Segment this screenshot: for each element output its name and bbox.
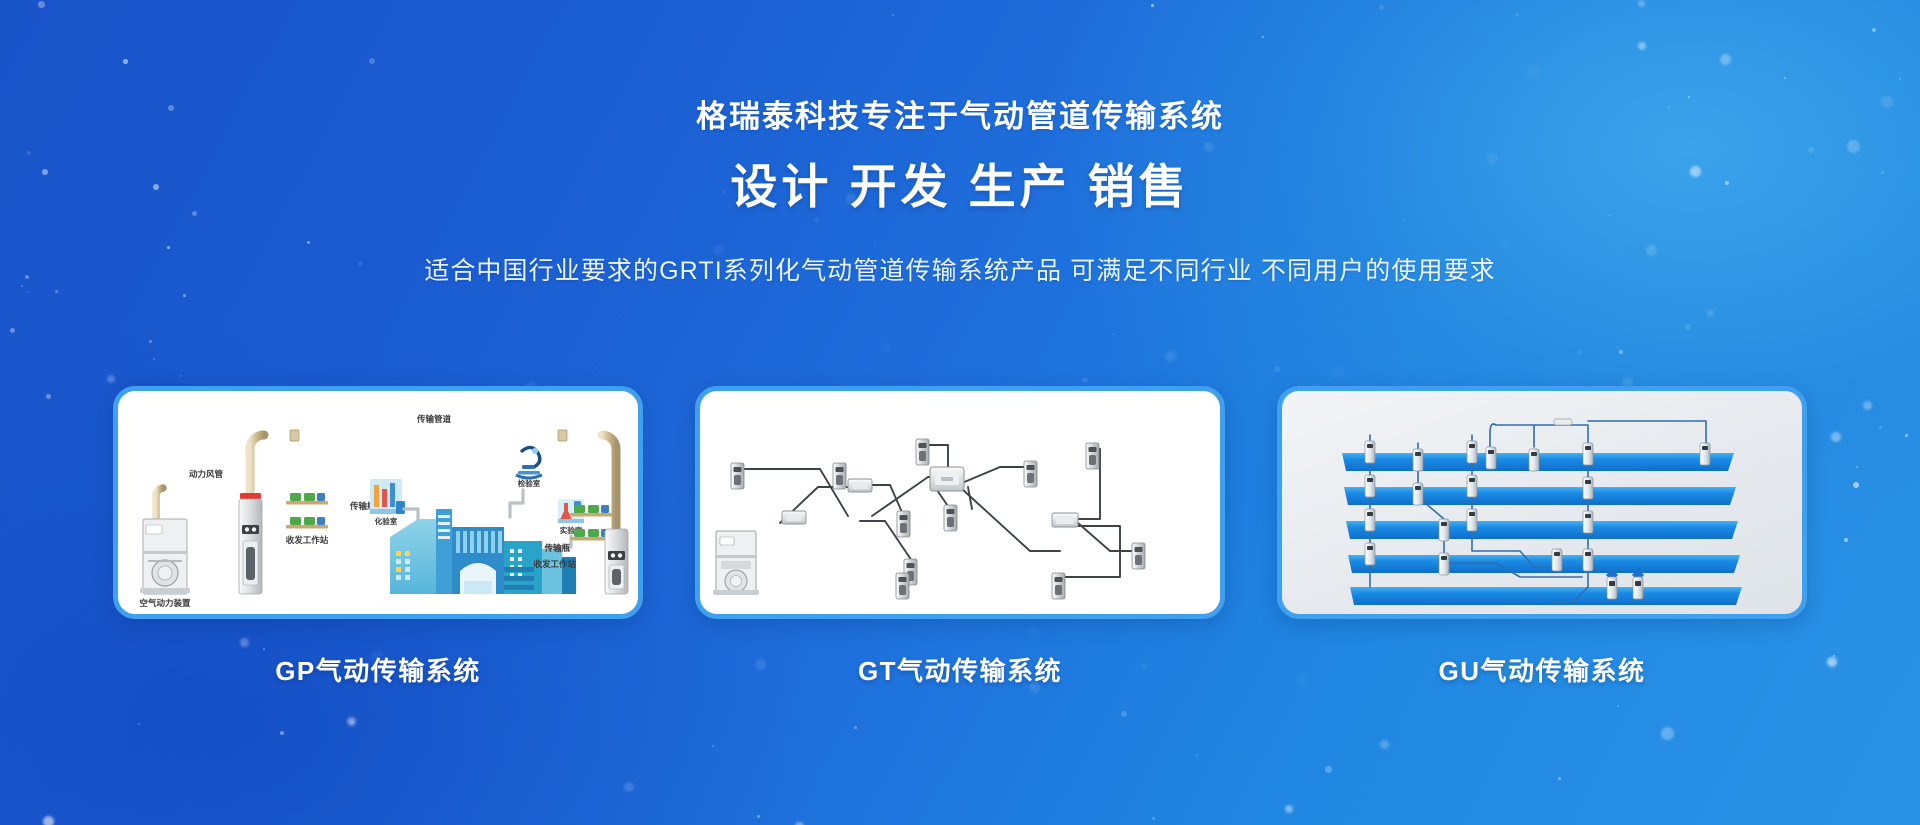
bokeh-dot <box>1380 740 1389 749</box>
bokeh-dot <box>43 816 54 825</box>
gp-label-blower: 空气动力装置 <box>139 598 191 608</box>
gu-building-diagram <box>1282 391 1802 614</box>
gu-floor-slab <box>1344 487 1736 505</box>
gu-floor-slab <box>1346 521 1738 539</box>
bokeh-dot <box>1082 377 1088 383</box>
gu-roof-coupling <box>1554 419 1572 425</box>
gp-lab-chem-icon <box>370 479 405 514</box>
gu-floor-slab <box>1350 587 1742 605</box>
bokeh-dot <box>138 723 140 725</box>
gu-station <box>1467 509 1477 531</box>
gp-label-station-left: 收发工作站 <box>286 535 329 545</box>
gt-diverter <box>1052 513 1078 527</box>
gu-floor-slab <box>1348 555 1740 573</box>
bokeh-dot <box>1577 350 1581 354</box>
bokeh-dot <box>149 340 152 343</box>
bokeh-dot <box>153 358 155 360</box>
gu-station <box>1439 519 1449 541</box>
gu-station <box>1365 475 1375 497</box>
bokeh-dot <box>1707 310 1714 317</box>
bokeh-dot <box>1332 366 1345 379</box>
gt-station <box>1086 443 1099 469</box>
bokeh-dot <box>854 726 857 729</box>
bokeh-dot <box>55 290 58 293</box>
gp-blower-unit <box>140 519 190 594</box>
gu-station <box>1439 553 1449 575</box>
gp-label-lab-micro: 检验室 <box>518 478 541 488</box>
gt-station <box>896 573 909 599</box>
gu-ground-unit <box>1606 569 1618 599</box>
gt-station <box>833 463 846 489</box>
gt-station <box>944 505 957 531</box>
bokeh-dot <box>1196 754 1198 756</box>
banner-copy: 格瑞泰科技专注于气动管道传输系统 设计 开发 生产 销售 适合中国行业要求的GR… <box>0 0 1920 289</box>
gt-diverter <box>848 479 872 492</box>
bokeh-dot <box>1325 766 1332 773</box>
bokeh-dot <box>347 717 356 726</box>
gt-station <box>916 439 929 465</box>
banner-kicker: 格瑞泰科技专注于气动管道传输系统 <box>0 0 1920 137</box>
card-caption-gt: GT气动传输系统 <box>858 651 1062 688</box>
gu-station <box>1413 449 1423 471</box>
bokeh-dot <box>1152 817 1155 820</box>
bokeh-dot <box>1274 366 1280 372</box>
gt-station <box>1024 461 1037 487</box>
bokeh-dot <box>1285 805 1293 813</box>
bokeh-dot <box>27 291 29 293</box>
gp-label-station-right: 收发工作站 <box>533 559 576 569</box>
gu-station <box>1583 549 1593 571</box>
bokeh-dot <box>10 328 15 333</box>
bokeh-dot <box>624 782 634 792</box>
bokeh-dot <box>1619 350 1623 354</box>
gu-station <box>1529 449 1539 471</box>
gp-diagram-svg: 传输管道 动力风管 <box>118 391 638 614</box>
bokeh-dot <box>351 721 353 723</box>
gp-label-power-duct: 动力风管 <box>189 469 224 479</box>
gu-station <box>1583 477 1593 499</box>
gu-ground-unit <box>1632 569 1644 599</box>
card-caption-gp: GP气动传输系统 <box>275 651 481 688</box>
card-image-frame-gu <box>1277 386 1807 619</box>
bokeh-dot <box>107 375 115 383</box>
bokeh-dot <box>757 815 760 818</box>
gu-station <box>1413 483 1423 505</box>
gp-carrier-shelf-left <box>286 493 328 529</box>
bokeh-dot <box>594 367 596 369</box>
card-image-frame-gp: 传输管道 动力风管 <box>113 386 643 619</box>
banner-subtitle: 适合中国行业要求的GRTI系列化气动管道传输系统产品 可满足不同行业 不同用户的… <box>0 215 1920 289</box>
product-card-gt[interactable]: GT气动传输系统 <box>695 386 1225 688</box>
gu-diagram-svg <box>1282 391 1802 614</box>
gt-station <box>1132 543 1145 569</box>
gt-diverter <box>930 467 964 491</box>
gp-station-right <box>605 529 628 594</box>
product-card-gp[interactable]: 传输管道 动力风管 <box>113 386 643 688</box>
gu-floor-slabs <box>1342 453 1742 605</box>
gu-station <box>1365 441 1375 463</box>
gu-station <box>1467 441 1477 463</box>
gp-label-carrier-right: 传输瓶 <box>543 543 570 553</box>
product-card-gu[interactable]: GU气动传输系统 <box>1277 386 1807 688</box>
bokeh-dot <box>1558 777 1561 780</box>
gp-station-left <box>239 493 262 594</box>
card-caption-gu: GU气动传输系统 <box>1438 651 1645 688</box>
gt-station <box>1052 573 1065 599</box>
product-card-row: 传输管道 动力风管 <box>0 386 1920 688</box>
gt-diverter <box>782 511 806 524</box>
bokeh-dot <box>1661 727 1674 740</box>
gu-station <box>1467 475 1477 497</box>
gp-microscope-icon <box>516 447 542 478</box>
gt-blower-unit <box>713 531 759 595</box>
gp-branch-micro <box>510 490 523 517</box>
gp-label-lab-chem: 化验室 <box>375 516 398 526</box>
bokeh-dot <box>180 375 182 377</box>
bokeh-dot <box>1165 351 1176 362</box>
gt-station <box>731 463 744 489</box>
bokeh-dot <box>712 745 714 747</box>
bokeh-dot <box>883 343 891 351</box>
gu-station <box>1365 509 1375 531</box>
gu-station <box>1552 549 1562 571</box>
gp-label-pipeline: 传输管道 <box>416 414 452 424</box>
banner-headline: 设计 开发 生产 销售 <box>0 137 1920 215</box>
bokeh-dot <box>183 294 186 297</box>
gp-power-duct-drop <box>156 488 163 521</box>
bokeh-dot <box>280 731 284 735</box>
gp-system-diagram: 传输管道 动力风管 <box>118 391 638 614</box>
bokeh-dot <box>1121 711 1127 717</box>
gt-diagram-svg <box>700 391 1220 614</box>
card-image-frame-gt <box>695 386 1225 619</box>
bokeh-dot <box>1685 324 1691 330</box>
gt-station <box>897 511 910 537</box>
promo-banner: 格瑞泰科技专注于气动管道传输系统 设计 开发 生产 销售 适合中国行业要求的GR… <box>0 0 1920 825</box>
bokeh-dot <box>619 316 621 318</box>
bokeh-dot <box>1617 705 1619 707</box>
gu-station <box>1583 511 1593 533</box>
bokeh-dot <box>1112 333 1115 336</box>
gt-network-diagram <box>700 391 1220 614</box>
gu-station <box>1583 443 1593 465</box>
gu-station <box>1365 543 1375 565</box>
gu-tube-network <box>1370 421 1706 603</box>
gu-station <box>1486 447 1496 469</box>
gu-station <box>1700 443 1710 465</box>
